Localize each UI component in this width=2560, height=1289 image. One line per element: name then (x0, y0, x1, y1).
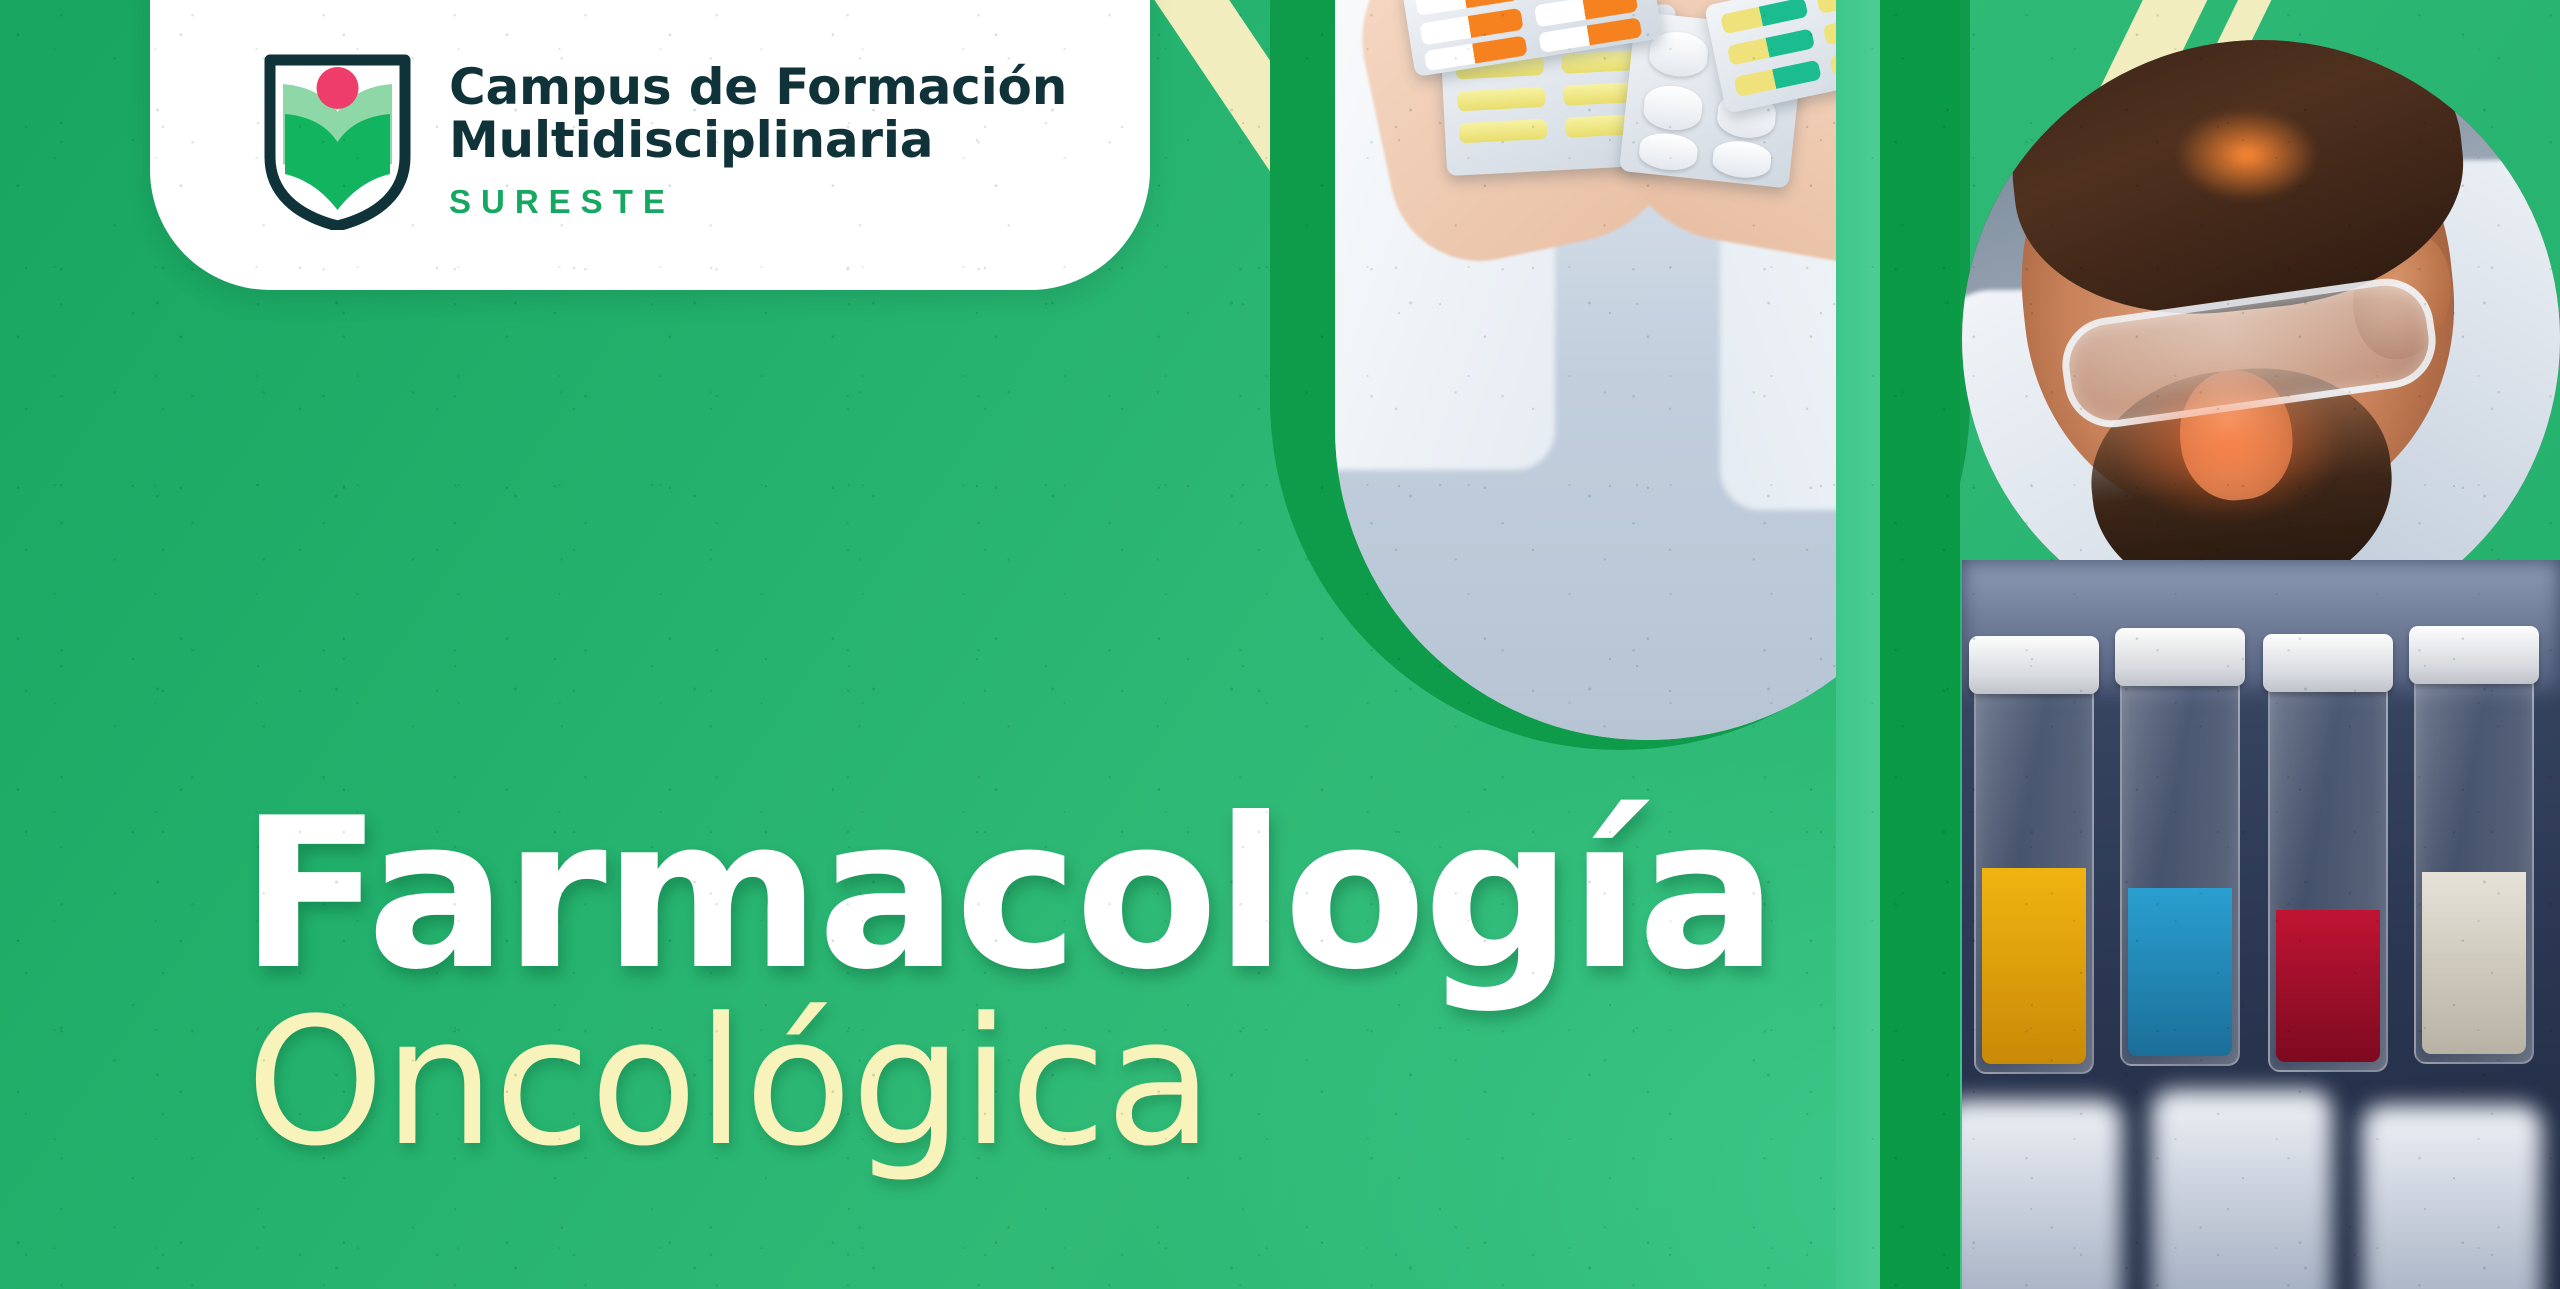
bottle-cap (2263, 634, 2393, 692)
pill-bottles-photo (1962, 560, 2560, 1289)
bottle-cap (2409, 626, 2539, 684)
page-subtitle: Oncológica (246, 995, 1800, 1171)
logo-card: Campus de Formación Multidisciplinaria S… (150, 0, 1150, 290)
green-vertical-band (1880, 0, 1960, 1289)
logo-lockup: Campus de Formación Multidisciplinaria S… (260, 52, 1067, 230)
foreground-bottle-blur-2 (2152, 1090, 2332, 1289)
yellow-tablets (1982, 868, 2086, 1064)
foreground-bottle-blur-3 (2362, 1105, 2542, 1289)
page-title: Farmacología (240, 800, 1800, 991)
brand-name-line-2: Multidisciplinaria (449, 114, 1067, 167)
white-capsules (2422, 872, 2526, 1054)
warm-light-highlight (2177, 110, 2317, 200)
headline-block: Farmacología Oncológica (240, 800, 1800, 1171)
blue-tablets (2128, 888, 2232, 1056)
bottle-yellow-tablets (1974, 680, 2094, 1074)
red-tablets (2276, 910, 2380, 1062)
bottle-cap (2115, 628, 2245, 686)
brand-text: Campus de Formación Multidisciplinaria S… (449, 61, 1067, 221)
bottle-blue-tablets (2120, 672, 2240, 1066)
bottle-white-capsules (2414, 670, 2534, 1064)
brand-sub-label: SURESTE (449, 183, 1067, 221)
foreground-bottle-blur-1 (1962, 1100, 2122, 1289)
brand-name-line-1: Campus de Formación (449, 61, 1067, 114)
scientist-photo (1962, 40, 2560, 638)
bottle-red-tablets (2268, 678, 2388, 1072)
warm-light-glow (2112, 370, 2342, 520)
bottle-cap (1969, 636, 2099, 694)
promo-poster: Campus de Formación Multidisciplinaria S… (0, 0, 2560, 1289)
shield-book-leaf-icon (260, 52, 415, 230)
